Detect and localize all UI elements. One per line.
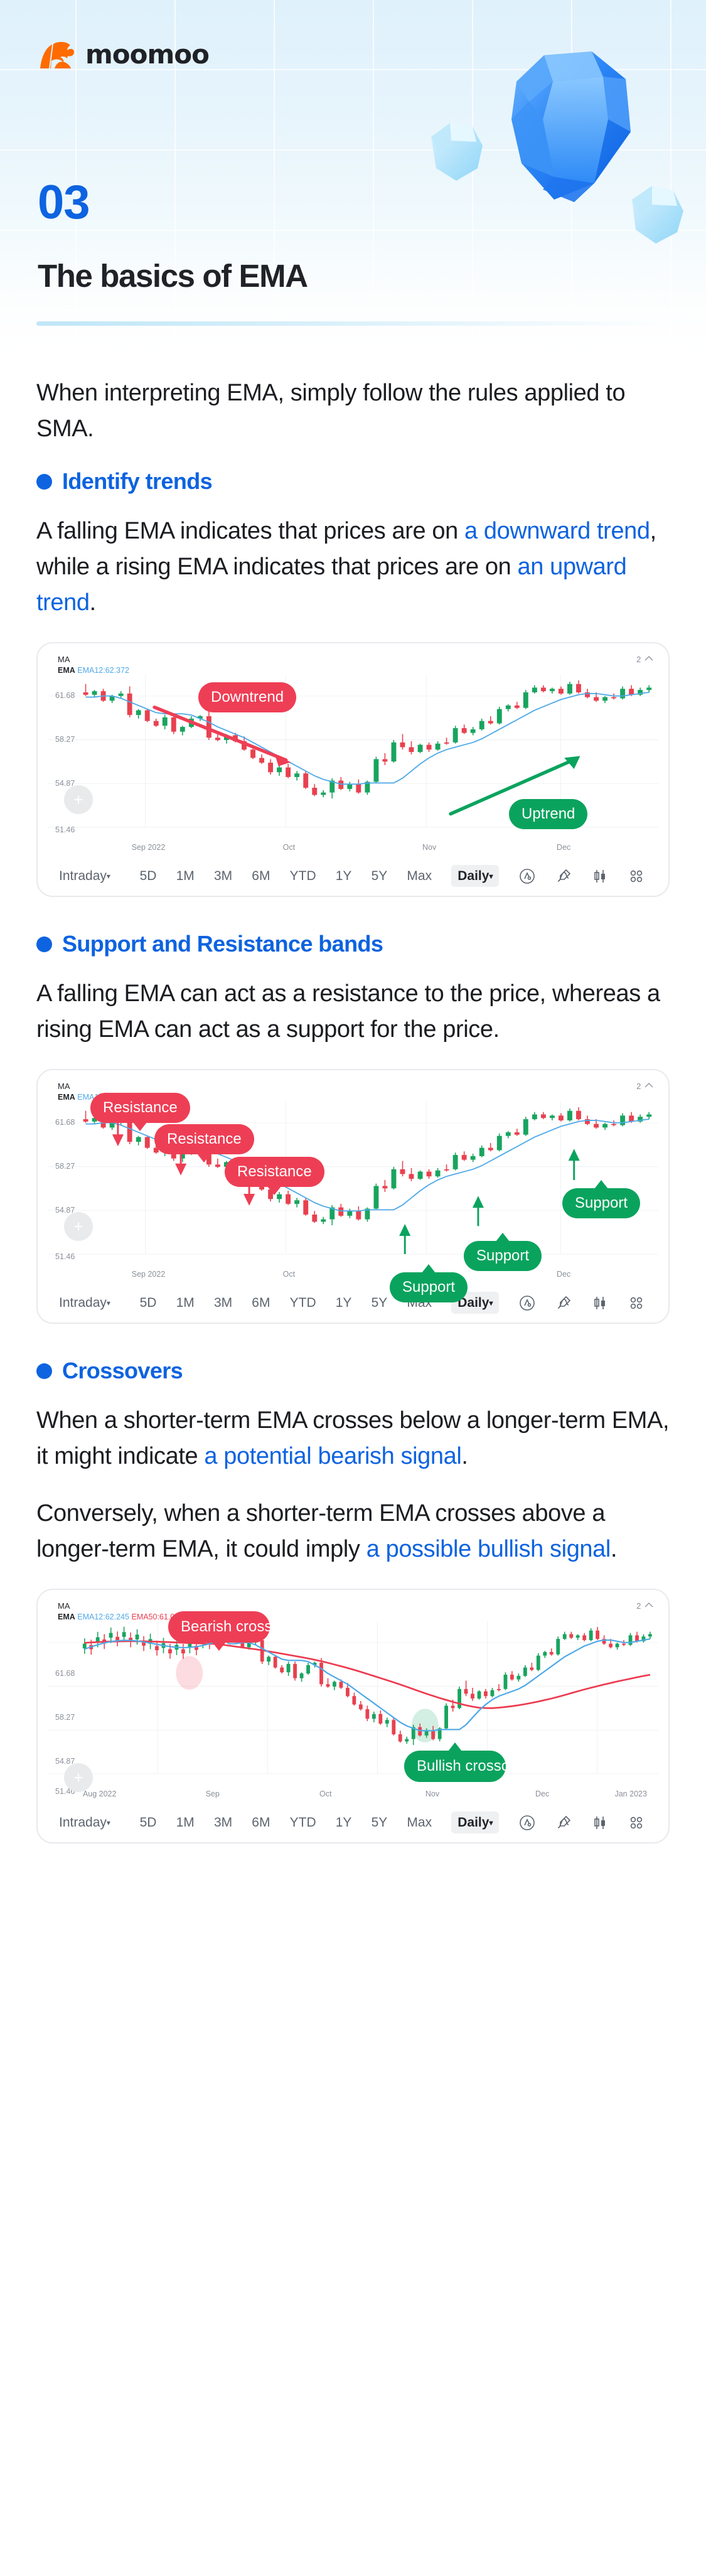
chart-legend: EMA EMA12:62.245 EMA50:61.050	[48, 1611, 658, 1621]
annotation-bullish-crossover: Bullish crossover	[404, 1751, 506, 1782]
chart-header: MA 2	[48, 655, 658, 664]
chapter-number: 03	[38, 179, 90, 227]
chevron-down-icon: ▾	[489, 1299, 493, 1307]
x-tick-label: Sep	[206, 1790, 220, 1798]
toolbar-item-1m[interactable]: 1M	[166, 1296, 204, 1311]
legend-key: EMA	[58, 1093, 75, 1102]
toolbar-item-intraday[interactable]: Intraday▾	[51, 1815, 130, 1830]
grid-layout-icon[interactable]	[618, 1295, 655, 1311]
toolbar-item-5y[interactable]: 5Y	[361, 869, 397, 884]
x-tick-label: Aug 2022	[83, 1790, 117, 1798]
toolbar-item-5d[interactable]: 5D	[130, 1815, 166, 1830]
small-gem-right-icon	[632, 186, 683, 244]
x-tick-label: Sep 2022	[132, 1270, 166, 1279]
toolbar-period-selector[interactable]: Daily▾	[442, 869, 509, 884]
section-title: Identify trends	[62, 468, 212, 495]
small-gem-left-icon	[431, 123, 483, 181]
y-tick-label: 61.68	[55, 691, 75, 700]
section-heading-identify-trends: Identify trends	[36, 468, 670, 495]
hero-banner: moomoo 03 The basics of EMA	[0, 0, 706, 375]
indicator-count: 2	[636, 1601, 641, 1611]
text-run: .	[90, 589, 96, 616]
section-paragraph: Conversely, when a shorter-term EMA cros…	[36, 1496, 670, 1567]
compass-icon[interactable]	[509, 1815, 545, 1831]
x-tick-label: Oct	[319, 1790, 331, 1798]
bullet-dot-icon	[36, 936, 52, 952]
brand-logo[interactable]: moomoo	[38, 39, 209, 70]
annotation-resistance-3: Resistance	[225, 1157, 324, 1187]
section-paragraph: A falling EMA indicates that prices are …	[36, 513, 670, 621]
x-tick-label: Dec	[557, 843, 570, 852]
chart-toolbar[interactable]: Intraday▾ 5D 1M 3M 6M YTD 1Y 5Y Max Dail…	[48, 1285, 658, 1316]
candlestick-icon[interactable]	[582, 868, 618, 884]
section-title: Crossovers	[62, 1358, 183, 1384]
indicator-count: 2	[636, 1081, 641, 1091]
toolbar-item-ytd[interactable]: YTD	[280, 869, 326, 884]
x-tick-label: Nov	[425, 1790, 439, 1798]
highlight-run: a potential bearish signal	[204, 1443, 461, 1469]
chart-toolbar[interactable]: Intraday▾ 5D 1M 3M 6M YTD 1Y 5Y Max Dail…	[48, 1805, 658, 1836]
toolbar-item-5d[interactable]: 5D	[130, 869, 166, 884]
gem-illustration	[424, 19, 687, 251]
draw-pen-icon[interactable]	[545, 1295, 582, 1311]
chart-header: MA 2	[48, 1601, 658, 1611]
toolbar-item-5y[interactable]: 5Y	[361, 1296, 397, 1311]
annotation-support-3: Support	[562, 1188, 640, 1218]
legend-key: EMA	[58, 1613, 75, 1621]
draw-pen-icon[interactable]	[545, 868, 582, 884]
x-tick-label: Dec	[557, 1270, 570, 1279]
chart-indicator-count-collapse[interactable]: 2	[636, 655, 653, 664]
x-tick-label: Dec	[535, 1790, 549, 1798]
compass-icon[interactable]	[509, 868, 545, 884]
toolbar-item-5y[interactable]: 5Y	[361, 1815, 397, 1830]
chevron-down-icon: ▾	[107, 1299, 110, 1307]
toolbar-item-1y[interactable]: 1Y	[326, 1296, 361, 1311]
chevron-up-icon	[644, 1602, 653, 1608]
toolbar-item-6m[interactable]: 6M	[242, 869, 280, 884]
chevron-down-icon: ▾	[107, 872, 110, 881]
text-run: .	[461, 1443, 468, 1469]
annotation-support-2: Support	[464, 1241, 542, 1271]
article-content: When interpreting EMA, simply follow the…	[0, 375, 706, 1843]
plus-circle-icon[interactable]: +	[64, 1763, 93, 1792]
x-tick-label: Jan 2023	[614, 1790, 646, 1798]
bullet-dot-icon	[36, 1363, 52, 1379]
toolbar-item-ytd[interactable]: YTD	[280, 1815, 326, 1830]
compass-icon[interactable]	[509, 1295, 545, 1311]
x-tick-label: Oct	[283, 1270, 295, 1279]
y-tick-label: 51.46	[55, 1252, 75, 1261]
chart-x-axis: Aug 2022 Sep Oct Nov Dec Jan 2023	[48, 1790, 658, 1803]
x-tick-label: Oct	[283, 843, 295, 852]
legend-ema12: EMA12:62.372	[77, 666, 129, 675]
brand-name: moomoo	[85, 39, 209, 70]
toolbar-item-max[interactable]: Max	[397, 1815, 442, 1830]
section-title: Support and Resistance bands	[62, 931, 383, 957]
x-tick-label: Sep 2022	[132, 843, 166, 852]
chart-card-trends[interactable]: MA 2 EMA EMA12:62.372	[36, 642, 670, 897]
page-title: The basics of EMA	[38, 259, 308, 294]
large-gem-icon	[511, 51, 631, 202]
toolbar-item-1y[interactable]: 1Y	[326, 1815, 361, 1830]
y-tick-label: 58.27	[55, 1162, 75, 1171]
section-paragraph: When a shorter-term EMA crosses below a …	[36, 1403, 670, 1474]
y-tick-label: 58.27	[55, 735, 75, 744]
plus-circle-icon[interactable]: +	[64, 1212, 93, 1241]
chart-card-support-resistance[interactable]: MA 2 EMA EMA12:62.372	[36, 1069, 670, 1324]
chart-x-axis: Sep 2022 Oct Nov Dec	[48, 843, 658, 857]
chart-indicator-label: MA	[58, 1601, 70, 1611]
candlestick-icon[interactable]	[582, 1815, 618, 1831]
highlight-run: a downward trend	[464, 518, 650, 544]
grid-layout-icon[interactable]	[618, 868, 655, 884]
indicator-count: 2	[636, 655, 641, 664]
section-heading-support-resistance: Support and Resistance bands	[36, 931, 670, 957]
section-paragraph: A falling EMA can act as a resistance to…	[36, 976, 670, 1048]
candlestick-svg	[48, 1621, 658, 1790]
y-tick-label: 58.27	[55, 1713, 75, 1722]
annotation-resistance-2: Resistance	[154, 1124, 254, 1154]
toolbar-item-ytd[interactable]: YTD	[280, 1296, 326, 1311]
highlight-run: a possible bullish signal	[366, 1536, 611, 1562]
downtrend-arrow-icon	[154, 707, 291, 766]
y-tick-label: 51.46	[55, 825, 75, 834]
bullet-dot-icon	[36, 474, 52, 490]
chart-indicator-count-collapse[interactable]: 2	[636, 1081, 653, 1091]
hero-fade-overlay	[0, 231, 706, 375]
toolbar-item-1y[interactable]: 1Y	[326, 869, 361, 884]
annotation-uptrend: Uptrend	[509, 799, 587, 829]
text-run: A falling EMA indicates that prices are …	[36, 518, 464, 544]
toolbar-item-6m[interactable]: 6M	[242, 1815, 280, 1830]
chart-toolbar[interactable]: Intraday▾ 5D 1M 3M 6M YTD 1Y 5Y Max Dail…	[48, 858, 658, 889]
y-tick-label: 61.68	[55, 1118, 75, 1127]
chevron-up-icon	[644, 655, 653, 662]
chart-plot-area[interactable]: 61.68 58.27 54.87 51.46 + Bearish crosso…	[48, 1621, 658, 1790]
text-run: .	[611, 1536, 617, 1562]
toolbar-item-intraday[interactable]: Intraday▾	[51, 1296, 130, 1311]
legend-ema12: EMA12:62.245	[77, 1613, 129, 1621]
candlestick-icon[interactable]	[582, 1295, 618, 1311]
moomoo-bull-logo-icon	[38, 40, 77, 70]
toolbar-item-5d[interactable]: 5D	[130, 1296, 166, 1311]
toolbar-period-selector[interactable]: Daily▾	[442, 1815, 509, 1830]
toolbar-item-1m[interactable]: 1M	[166, 869, 204, 884]
annotation-support-1: Support	[390, 1272, 468, 1302]
x-tick-label: Nov	[422, 843, 436, 852]
toolbar-item-3m[interactable]: 3M	[204, 869, 242, 884]
chart-plot-area[interactable]: 61.68 58.27 54.87 51.46 + Downtrend Uptr…	[48, 675, 658, 843]
toolbar-item-max[interactable]: Max	[397, 869, 442, 884]
annotation-resistance-1: Resistance	[90, 1093, 190, 1123]
draw-pen-icon[interactable]	[545, 1815, 582, 1831]
bearish-crossover-highlight	[176, 1656, 203, 1690]
chevron-down-icon: ▾	[489, 1818, 493, 1827]
chart-header: MA 2	[48, 1081, 658, 1091]
toolbar-item-intraday[interactable]: Intraday▾	[51, 869, 130, 884]
toolbar-item-6m[interactable]: 6M	[242, 1296, 280, 1311]
chart-card-crossovers[interactable]: MA 2 EMA EMA12:62.245 EMA50:61.050	[36, 1589, 670, 1843]
chart-indicator-count-collapse[interactable]: 2	[636, 1601, 653, 1611]
chevron-up-icon	[644, 1082, 653, 1088]
plus-circle-icon[interactable]: +	[64, 785, 93, 814]
intro-paragraph: When interpreting EMA, simply follow the…	[36, 375, 670, 447]
toolbar-item-3m[interactable]: 3M	[204, 1296, 242, 1311]
chart-legend: EMA EMA12:62.372	[48, 664, 658, 675]
chart-plot-area[interactable]: 61.68 58.27 54.87 51.46 + Resistance Res…	[48, 1102, 658, 1270]
chart-x-axis: Sep 2022 Oct Nov Dec	[48, 1270, 658, 1284]
toolbar-item-1m[interactable]: 1M	[166, 1815, 204, 1830]
y-tick-label: 61.68	[55, 1669, 75, 1678]
legend-key: EMA	[58, 666, 75, 675]
grid-layout-icon[interactable]	[618, 1815, 655, 1831]
annotation-downtrend: Downtrend	[198, 682, 296, 712]
chevron-down-icon: ▾	[107, 1818, 110, 1827]
title-underline	[36, 321, 670, 326]
chart-indicator-label: MA	[58, 1081, 70, 1091]
chevron-down-icon: ▾	[489, 872, 493, 881]
chart-indicator-label: MA	[58, 655, 70, 664]
annotation-bearish-crossover: Bearish crossover	[168, 1611, 270, 1643]
toolbar-item-3m[interactable]: 3M	[204, 1815, 242, 1830]
section-heading-crossovers: Crossovers	[36, 1358, 670, 1384]
